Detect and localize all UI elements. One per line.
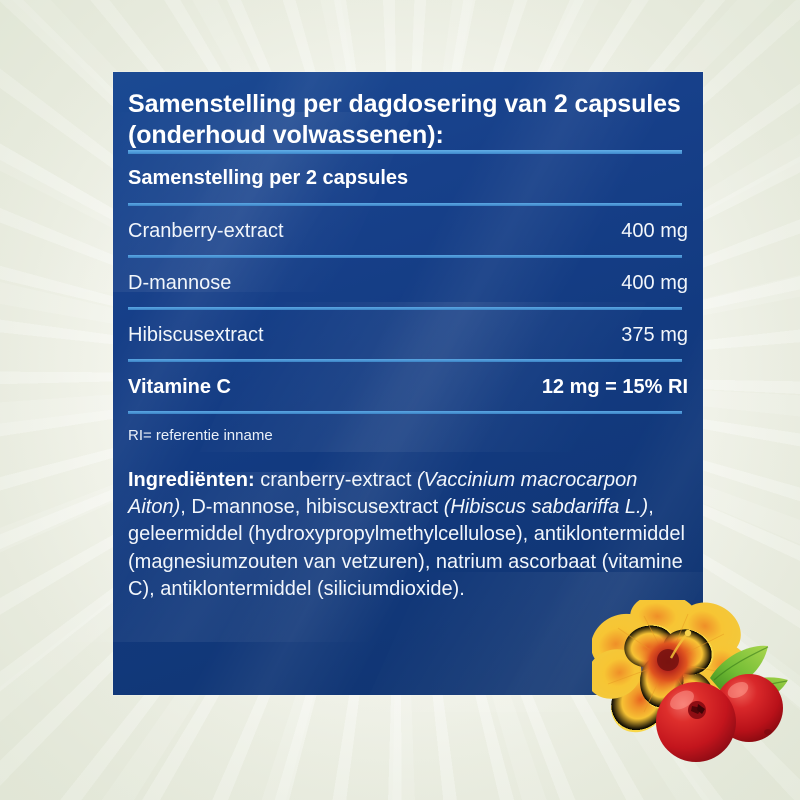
ingredients-paragraph: Ingrediënten: cranberry-extract (Vaccini… <box>128 443 688 603</box>
table-row: Hibiscusextract 375 mg <box>128 310 688 359</box>
nutrient-value: 400 mg <box>621 273 688 293</box>
panel-heading-line-1: Samenstelling per dagdosering van 2 caps… <box>128 89 688 120</box>
berry-highlight <box>725 679 751 702</box>
panel-heading: Samenstelling per dagdosering van 2 caps… <box>128 72 688 150</box>
nutrient-label: Cranberry-extract <box>128 221 284 241</box>
nutrient-value: 400 mg <box>621 221 688 241</box>
nutrient-label: Hibiscusextract <box>128 325 264 345</box>
berry-calyx <box>688 701 706 719</box>
ingredients-seg-2: , D-mannose, hibiscusextract <box>180 496 443 518</box>
table-row: D-mannose 400 mg <box>128 258 688 307</box>
panel-heading-line-2: (onderhoud volwassenen): <box>128 120 688 151</box>
poster-canvas: Samenstelling per dagdosering van 2 caps… <box>0 0 800 800</box>
berry-blemish <box>764 729 772 735</box>
nutrition-table: Cranberry-extract 400 mg D-mannose 400 m… <box>128 206 688 414</box>
nutrient-value: 12 mg = 15% RI <box>542 377 688 397</box>
nutrient-label: Vitamine C <box>128 377 231 397</box>
ingredients-label: Ingrediënten: <box>128 469 255 491</box>
nutrition-panel: Samenstelling per dagdosering van 2 caps… <box>113 72 703 695</box>
nutrient-label: D-mannose <box>128 273 231 293</box>
ingredients-seg-3-latin: (Hibiscus sabdariffa L.) <box>444 496 649 518</box>
reference-intake-footnote: RI= referentie inname <box>128 414 688 443</box>
nutrient-value: 375 mg <box>621 325 688 345</box>
table-row: Cranberry-extract 400 mg <box>128 206 688 255</box>
green-leaf <box>710 646 788 707</box>
table-row: Vitamine C 12 mg = 15% RI <box>128 362 688 411</box>
cranberry-back <box>715 674 783 742</box>
ingredients-seg-0: cranberry-extract <box>255 469 417 491</box>
table-column-header: Samenstelling per 2 capsules <box>128 154 688 203</box>
